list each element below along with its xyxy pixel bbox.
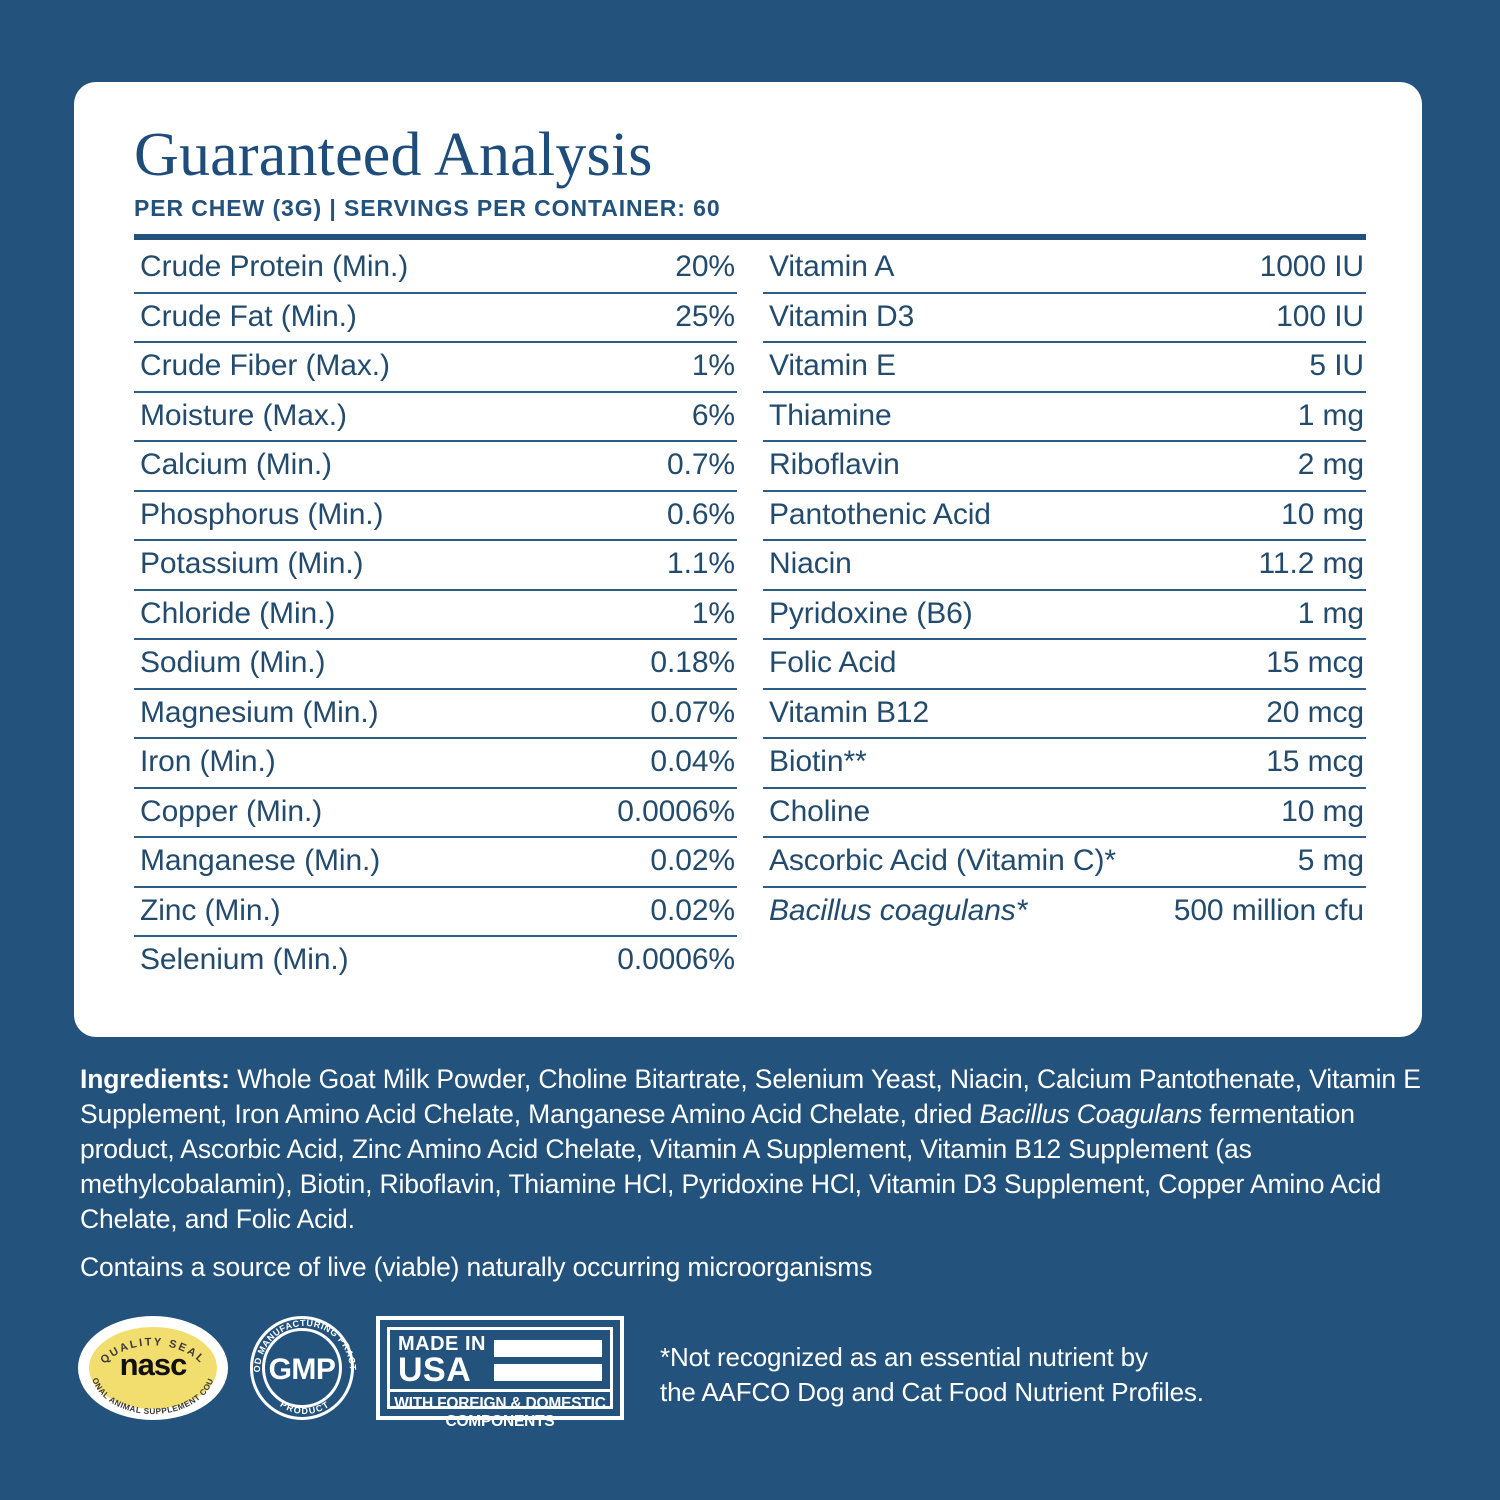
nutrient-value: 15 mcg (1266, 745, 1364, 779)
table-row: Potassium (Min.)1.1% (134, 541, 737, 591)
table-row: Sodium (Min.)0.18% (134, 640, 737, 690)
nutrient-value: 5 mg (1298, 844, 1364, 878)
usa-stripe (494, 1364, 602, 1381)
nutrient-value: 0.04% (650, 745, 735, 779)
usa-top-section: MADE IN USA (390, 1330, 610, 1389)
table-row: Folic Acid15 mcg (763, 640, 1366, 690)
nutrient-label: Pantothenic Acid (769, 498, 991, 532)
table-row: Moisture (Max.)6% (134, 393, 737, 443)
analysis-table: Crude Protein (Min.)20%Crude Fat (Min.)2… (134, 244, 1366, 987)
ingredients-italic-term: Bacillus Coagulans (979, 1099, 1202, 1129)
table-row: Thiamine1 mg (763, 393, 1366, 443)
nutrient-value: 0.7% (667, 448, 735, 482)
nutrient-label: Phosphorus (Min.) (140, 498, 383, 532)
nutrient-label: Moisture (Max.) (140, 399, 347, 433)
usa-inner-frame: MADE IN USA WITH FOREIGN & DOMESTIC COMP… (387, 1327, 613, 1409)
nutrient-value: 25% (675, 300, 735, 334)
nutrient-label: Niacin (769, 547, 852, 581)
nasc-quality-seal-icon: QUALITY SEAL NATIONAL ANIMAL SUPPLEMENT … (78, 1316, 228, 1420)
nutrient-value: 0.0006% (617, 943, 735, 977)
nutrient-value: 0.02% (650, 844, 735, 878)
nutrient-value: 0.0006% (617, 795, 735, 829)
table-row: Bacillus coagulans*500 million cfu (763, 888, 1366, 938)
nutrient-value: 500 million cfu (1174, 894, 1364, 928)
table-row: Vitamin A1000 IU (763, 244, 1366, 294)
table-row: Magnesium (Min.)0.07% (134, 690, 737, 740)
nutrient-label: Bacillus coagulans* (769, 894, 1027, 928)
nutrient-label: Copper (Min.) (140, 795, 322, 829)
nutrient-value: 0.6% (667, 498, 735, 532)
nutrient-value: 100 IU (1276, 300, 1364, 334)
serving-subtitle: PER CHEW (3G) | SERVINGS PER CONTAINER: … (134, 195, 1366, 222)
nutrition-label-page: Guaranteed Analysis PER CHEW (3G) | SERV… (0, 0, 1500, 1500)
nasc-wordmark: nasc (78, 1349, 228, 1380)
analysis-left-column: Crude Protein (Min.)20%Crude Fat (Min.)2… (134, 244, 737, 987)
nutrient-value: 11.2 mg (1259, 547, 1364, 581)
made-in-usa-icon: MADE IN USA WITH FOREIGN & DOMESTIC COMP… (376, 1316, 624, 1420)
table-row: Niacin11.2 mg (763, 541, 1366, 591)
nutrient-value: 20 mcg (1266, 696, 1364, 730)
ingredients-heading: Ingredients: (80, 1064, 230, 1094)
nutrient-label: Pyridoxine (B6) (769, 597, 973, 631)
usa-usa-label: USA (398, 1354, 486, 1386)
aafco-footnote: *Not recognized as an essential nutrient… (660, 1340, 1360, 1410)
table-row: Zinc (Min.)0.02% (134, 888, 737, 938)
certification-badges: QUALITY SEAL NATIONAL ANIMAL SUPPLEMENT … (78, 1316, 624, 1420)
nutrient-label: Selenium (Min.) (140, 943, 349, 977)
nutrient-label: Crude Protein (Min.) (140, 250, 408, 284)
usa-wordmark: MADE IN USA (398, 1335, 486, 1386)
contains-microorganisms-note: Contains a source of live (viable) natur… (80, 1252, 1280, 1283)
usa-components-subtitle: WITH FOREIGN & DOMESTIC COMPONENTS (390, 1389, 610, 1433)
table-row: Calcium (Min.)0.7% (134, 442, 737, 492)
table-row: Vitamin E5 IU (763, 343, 1366, 393)
nutrient-value: 1 mg (1298, 597, 1364, 631)
nutrient-value: 1.1% (667, 547, 735, 581)
nutrient-label: Crude Fat (Min.) (140, 300, 357, 334)
nutrient-label: Vitamin A (769, 250, 894, 284)
table-row: Ascorbic Acid (Vitamin C)*5 mg (763, 838, 1366, 888)
nutrient-label: Ascorbic Acid (Vitamin C)* (769, 844, 1116, 878)
page-title: Guaranteed Analysis (134, 124, 1366, 187)
table-row: Biotin**15 mcg (763, 739, 1366, 789)
nutrient-label: Choline (769, 795, 870, 829)
aafco-footnote-line-1: *Not recognized as an essential nutrient… (660, 1340, 1360, 1375)
table-row: Crude Protein (Min.)20% (134, 244, 737, 294)
nutrient-label: Potassium (Min.) (140, 547, 363, 581)
nutrient-value: 1 mg (1298, 399, 1364, 433)
table-row: Vitamin B1220 mcg (763, 690, 1366, 740)
table-row: Copper (Min.)0.0006% (134, 789, 737, 839)
nutrient-label: Biotin** (769, 745, 867, 779)
nutrient-value: 0.02% (650, 894, 735, 928)
nutrient-label: Thiamine (769, 399, 892, 433)
nutrient-value: 10 mg (1281, 795, 1364, 829)
analysis-right-column: Vitamin A1000 IUVitamin D3100 IUVitamin … (763, 244, 1366, 987)
table-row: Phosphorus (Min.)0.6% (134, 492, 737, 542)
nutrient-value: 1% (692, 597, 735, 631)
nutrient-label: Crude Fiber (Max.) (140, 349, 390, 383)
nutrient-label: Sodium (Min.) (140, 646, 325, 680)
gmp-product-icon: GOOD MANUFACTURING PRACTICE PRODUCT GMP (250, 1316, 354, 1420)
table-row: Pyridoxine (B6)1 mg (763, 591, 1366, 641)
table-row: Choline10 mg (763, 789, 1366, 839)
nutrient-label: Vitamin D3 (769, 300, 914, 334)
nutrient-label: Folic Acid (769, 646, 896, 680)
nutrient-value: 1000 IU (1260, 250, 1364, 284)
nutrient-value: 20% (675, 250, 735, 284)
nutrient-label: Vitamin B12 (769, 696, 929, 730)
nutrient-label: Manganese (Min.) (140, 844, 380, 878)
nutrient-label: Magnesium (Min.) (140, 696, 378, 730)
table-row: Crude Fat (Min.)25% (134, 294, 737, 344)
nutrient-value: 15 mcg (1266, 646, 1364, 680)
table-row: Vitamin D3100 IU (763, 294, 1366, 344)
usa-flag-stripes (494, 1335, 604, 1386)
ingredients-paragraph: Ingredients: Whole Goat Milk Powder, Cho… (80, 1062, 1430, 1237)
nutrient-value: 6% (692, 399, 735, 433)
table-row: Riboflavin2 mg (763, 442, 1366, 492)
nutrient-value: 2 mg (1298, 448, 1364, 482)
nutrient-value: 0.07% (650, 696, 735, 730)
nutrient-value: 10 mg (1281, 498, 1364, 532)
nutrient-label: Iron (Min.) (140, 745, 276, 779)
nutrient-label: Calcium (Min.) (140, 448, 332, 482)
aafco-footnote-line-2: the AAFCO Dog and Cat Food Nutrient Prof… (660, 1375, 1360, 1410)
gmp-wordmark: GMP (253, 1355, 351, 1385)
table-row: Chloride (Min.)1% (134, 591, 737, 641)
nutrient-label: Zinc (Min.) (140, 894, 281, 928)
nutrient-label: Vitamin E (769, 349, 896, 383)
table-row: Selenium (Min.)0.0006% (134, 937, 737, 987)
nutrient-value: 0.18% (650, 646, 735, 680)
table-row: Manganese (Min.)0.02% (134, 838, 737, 888)
guaranteed-analysis-card: Guaranteed Analysis PER CHEW (3G) | SERV… (74, 82, 1422, 1037)
table-row: Pantothenic Acid10 mg (763, 492, 1366, 542)
nutrient-label: Riboflavin (769, 448, 900, 482)
nutrient-value: 5 IU (1309, 349, 1364, 383)
nutrient-label: Chloride (Min.) (140, 597, 335, 631)
usa-stripe (494, 1340, 602, 1357)
header-divider (134, 234, 1366, 240)
nutrient-value: 1% (692, 349, 735, 383)
table-row: Iron (Min.)0.04% (134, 739, 737, 789)
table-row: Crude Fiber (Max.)1% (134, 343, 737, 393)
svg-text:PRODUCT: PRODUCT (278, 1399, 331, 1416)
